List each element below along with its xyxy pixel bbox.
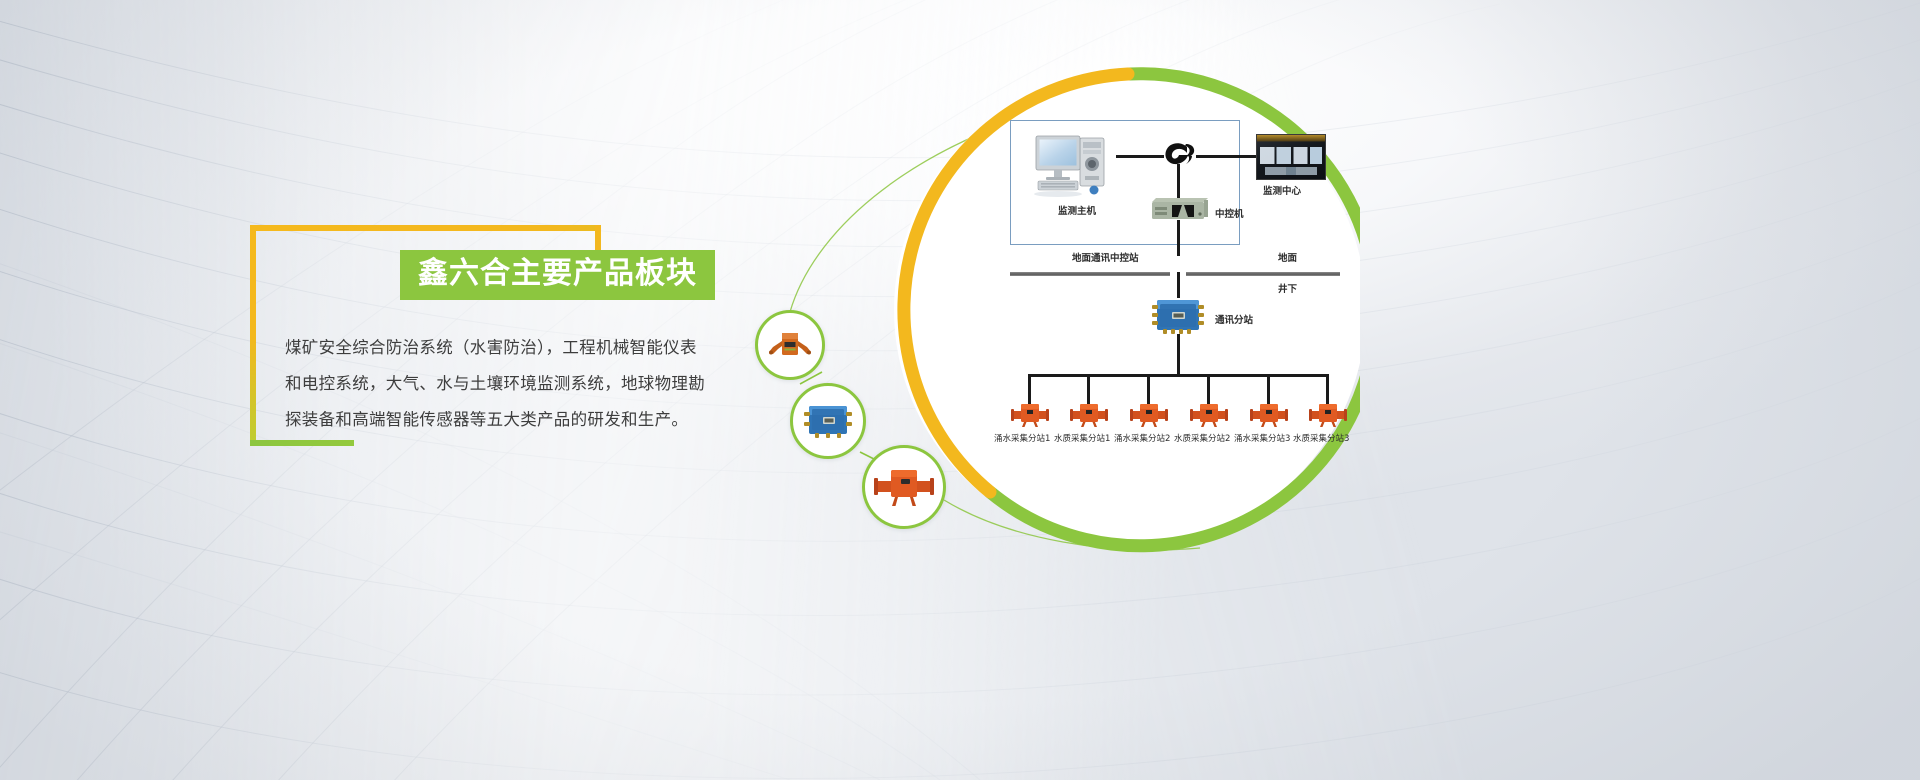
label-underground: 井下 (1278, 281, 1297, 295)
label-monitor-host: 监测主机 (1058, 203, 1096, 217)
page-title: 鑫六合主要产品板块 (400, 250, 715, 300)
frame-bottom-stub (250, 440, 354, 446)
drop-line (1147, 374, 1150, 404)
product-bubble-junction-box[interactable] (790, 383, 866, 459)
wire-host-to-internet (1116, 155, 1164, 158)
drop-line (1267, 374, 1270, 404)
banner-description: 煤矿安全综合防治系统（水害防治），工程机械智能仪表和电控系统，大气、水与土壤环境… (285, 330, 710, 438)
label-surface: 地面 (1278, 250, 1297, 264)
drop-line (1207, 374, 1210, 404)
label-monitor-center: 监测中心 (1263, 183, 1301, 197)
label-control-machine: 中控机 (1215, 206, 1244, 220)
system-architecture-diagram: 监测主机 监测中心 (1010, 120, 1340, 510)
wire-internet-to-center (1196, 155, 1256, 158)
screen-wall-strip (1260, 147, 1322, 164)
wire-substation-to-bus (1177, 334, 1180, 374)
wire-internet-to-control (1177, 164, 1180, 198)
monitor-center-icon (1256, 134, 1326, 180)
bus-trunk (1028, 374, 1328, 377)
drop-line (1326, 374, 1329, 404)
station-meter-icon (1070, 402, 1108, 433)
wire-control-down (1177, 220, 1180, 256)
product-bubble-sensor[interactable] (755, 310, 825, 380)
label-ground-station: 地面通讯中控站 (1072, 250, 1139, 264)
label-station-0: 涌水采集分站1 (994, 432, 1050, 444)
banner-stage: 鑫六合主要产品板块 煤矿安全综合防治系统（水害防治），工程机械智能仪表和电控系统… (0, 0, 1920, 780)
wire-surface-to-substation (1177, 272, 1180, 298)
label-comm-substation: 通讯分站 (1215, 312, 1253, 326)
drop-line (1087, 374, 1090, 404)
station-meter-icon (1190, 402, 1228, 433)
label-station-3: 水质采集分站2 (1174, 432, 1230, 444)
station-meter-icon (1011, 402, 1049, 433)
surface-divider-right (1186, 272, 1340, 276)
junction-box-icon (802, 402, 854, 440)
station-meter-icon (1250, 402, 1288, 433)
station-meter-icon (1130, 402, 1168, 433)
monitor-host-icon (1032, 132, 1116, 205)
label-station-2: 涌水采集分站2 (1114, 432, 1170, 444)
screen-console (1265, 167, 1317, 175)
label-station-4: 涌水采集分站3 (1234, 432, 1290, 444)
screen-glow (1257, 135, 1325, 142)
sensor-clamp-icon (767, 330, 813, 360)
surface-divider-left (1010, 272, 1170, 276)
drop-line (1028, 374, 1031, 404)
label-station-5: 水质采集分站3 (1293, 432, 1349, 444)
station-meter-icon (1309, 402, 1347, 433)
label-station-1: 水质采集分站1 (1054, 432, 1110, 444)
